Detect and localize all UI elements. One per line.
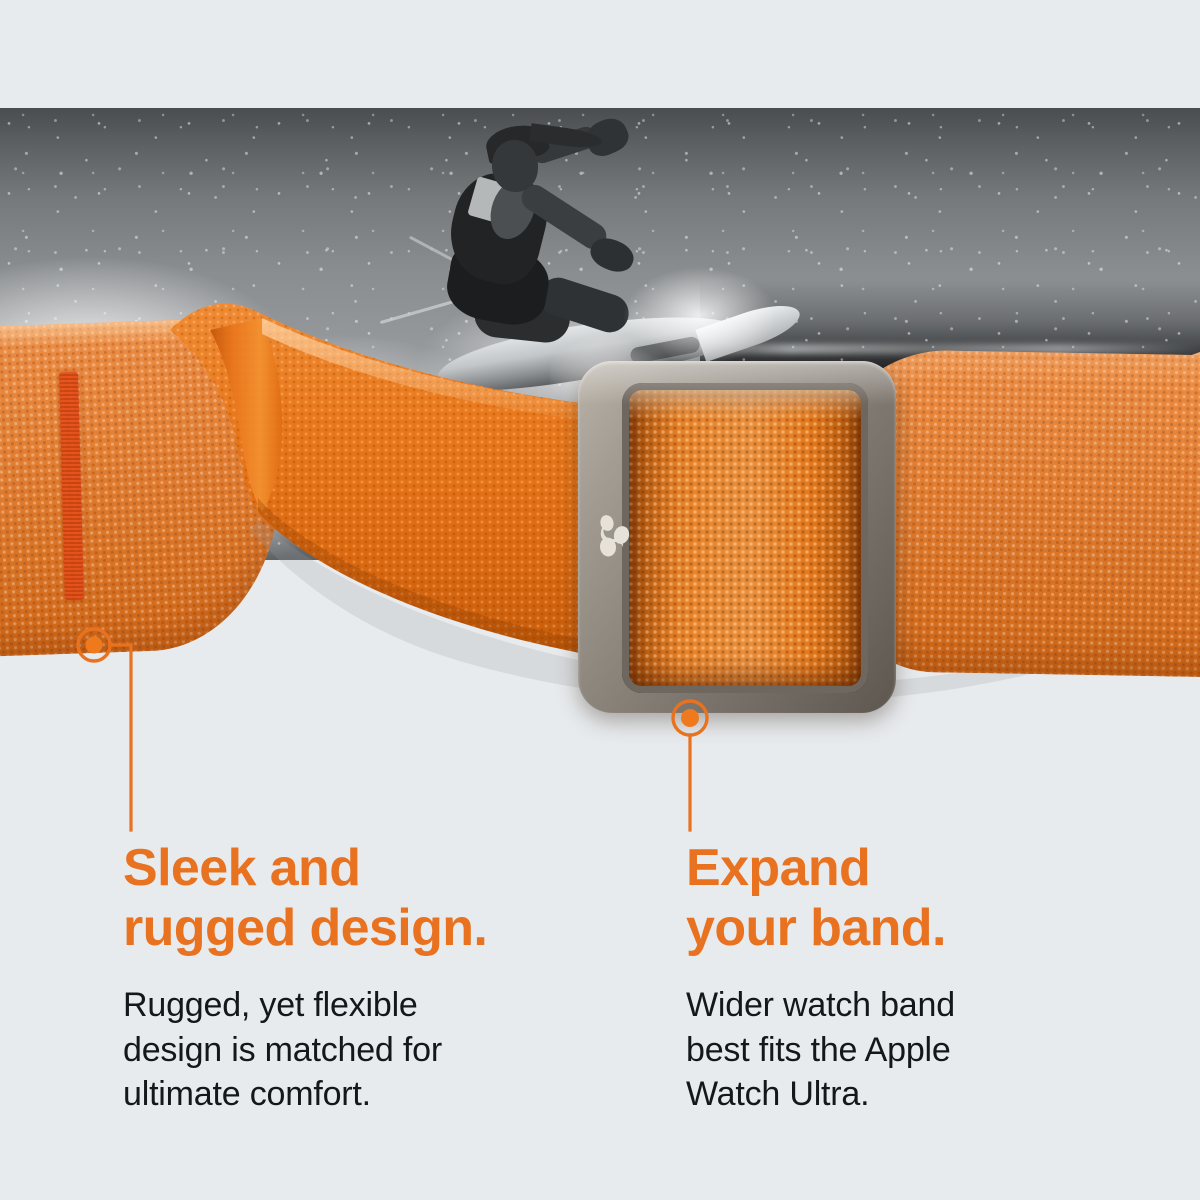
feature-body-right: Wider watch band best fits the Apple Wat… [686,983,1166,1118]
spigen-logo-icon [594,511,636,563]
feature-block-left: Sleek and rugged design. Rugged, yet fle… [123,838,603,1117]
feature-graphic: Sleek and rugged design. Rugged, yet fle… [0,0,1200,1200]
feature-body-left: Rugged, yet flexible design is matched f… [123,983,603,1118]
buckle-aperture [622,383,868,693]
feature-block-right: Expand your band. Wider watch band best … [686,838,1166,1117]
buckle-threaded-strap [629,390,861,686]
feature-headline-right: Expand your band. [686,838,1166,959]
band-buckle [578,361,896,713]
buckle-strap-highlight [629,390,861,420]
feature-headline-left: Sleek and rugged design. [123,838,603,959]
